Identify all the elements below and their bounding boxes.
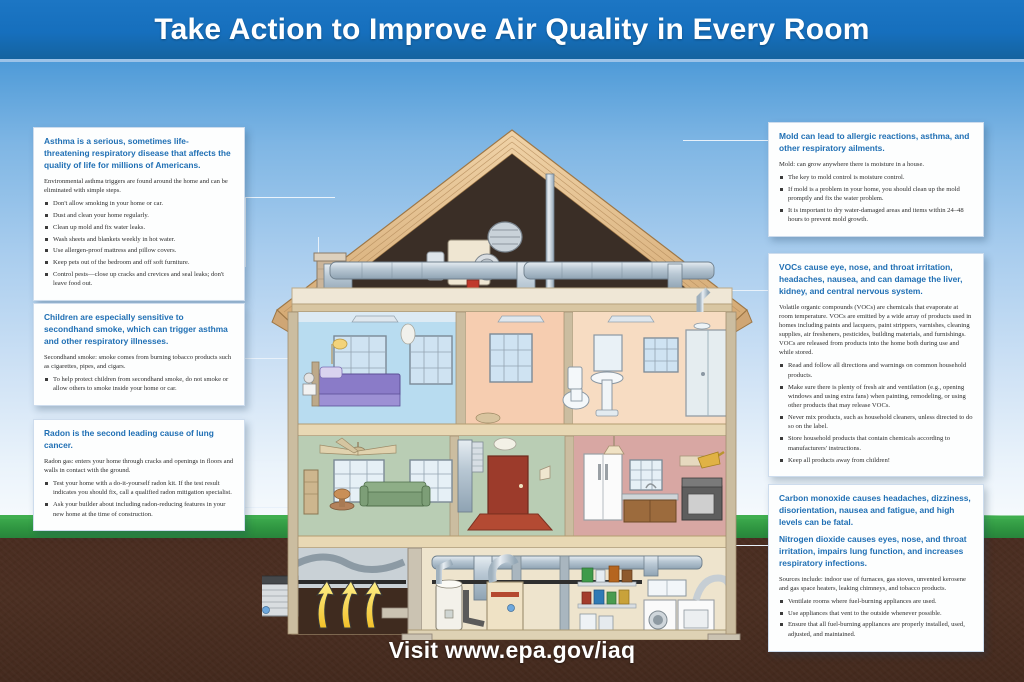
- callout-heading: Carbon monoxide causes headaches, dizzin…: [779, 493, 973, 529]
- callout-heading-2: Nitrogen dioxide causes eyes, nose, and …: [779, 534, 973, 570]
- poster-title-bar: Take Action to Improve Air Quality in Ev…: [0, 0, 1024, 62]
- callout-intro: Volatile organic compounds (VOCs) are ch…: [779, 303, 973, 358]
- callout-intro: Mold: can grow anywhere there is moistur…: [779, 160, 973, 169]
- list-item: Control pests—close up cracks and crevic…: [44, 270, 234, 289]
- callout-intro: Radon gas: enters your home through crac…: [44, 457, 234, 475]
- callout-bullets: The key to mold control is moisture cont…: [779, 173, 973, 225]
- list-item: Dust and clean your home regularly.: [44, 211, 234, 220]
- list-item: Use appliances that vent to the outside …: [779, 609, 973, 618]
- callout-mold: Mold can lead to allergic reactions, ast…: [768, 122, 984, 237]
- callout-bullets: Ventilate rooms where fuel-burning appli…: [779, 597, 973, 639]
- callout-intro: Secondhand smoke: smoke comes from burni…: [44, 353, 234, 371]
- callout-intro: Environmental asthma triggers are found …: [44, 177, 234, 195]
- list-item: Keep pets out of the bedroom and off sof…: [44, 258, 234, 267]
- list-item: Never mix products, such as household cl…: [779, 413, 973, 432]
- callout-heading: Radon is the second leading cause of lun…: [44, 428, 234, 452]
- callout-heading: Asthma is a serious, sometimes life-thre…: [44, 136, 234, 172]
- callout-asthma: Asthma is a serious, sometimes life-thre…: [33, 127, 245, 301]
- list-item: Ventilate rooms where fuel-burning appli…: [779, 597, 973, 606]
- list-item: Keep all products away from children!: [779, 456, 973, 465]
- callout-carbon-monoxide: Carbon monoxide causes headaches, dizzin…: [768, 484, 984, 652]
- list-item: Use allergen-proof mattress and pillow c…: [44, 246, 234, 255]
- callout-heading: VOCs cause eye, nose, and throat irritat…: [779, 262, 973, 298]
- callout-heading: Children are especially sensitive to sec…: [44, 312, 234, 348]
- callout-heading: Mold can lead to allergic reactions, ast…: [779, 131, 973, 155]
- list-item: Test your home with a do-it-yourself rad…: [44, 479, 234, 498]
- list-item: Store household products that contain ch…: [779, 434, 973, 453]
- list-item: Make sure there is plenty of fresh air a…: [779, 383, 973, 411]
- list-item: Read and follow all directions and warni…: [779, 361, 973, 380]
- callout-bullets: Don't allow smoking in your home or car.…: [44, 199, 234, 289]
- list-item: Ensure that all fuel-burning appliances …: [779, 620, 973, 639]
- list-item: To help protect children from secondhand…: [44, 375, 234, 394]
- callout-intro: Sources include: indoor use of furnaces,…: [779, 575, 973, 593]
- list-item: Don't allow smoking in your home or car.: [44, 199, 234, 208]
- list-item: If mold is a problem in your home, you s…: [779, 185, 973, 204]
- callout-secondhand-smoke: Children are especially sensitive to sec…: [33, 303, 245, 406]
- list-item: Ask your builder about including radon-r…: [44, 500, 234, 519]
- infographic-poster: Take Action to Improve Air Quality in Ev…: [0, 0, 1024, 682]
- page-title: Take Action to Improve Air Quality in Ev…: [154, 13, 869, 47]
- house-cutaway-illustration: [262, 112, 762, 640]
- callout-bullets: To help protect children from secondhand…: [44, 375, 234, 394]
- list-item: Wash sheets and blankets weekly in hot w…: [44, 235, 234, 244]
- callout-bullets: Test your home with a do-it-yourself rad…: [44, 479, 234, 519]
- callout-radon: Radon is the second leading cause of lun…: [33, 419, 245, 531]
- list-item: It is important to dry water-damaged are…: [779, 206, 973, 225]
- callout-bullets: Read and follow all directions and warni…: [779, 361, 973, 465]
- list-item: The key to mold control is moisture cont…: [779, 173, 973, 182]
- list-item: Clean up mold and fix water leaks.: [44, 223, 234, 232]
- callout-vocs: VOCs cause eye, nose, and throat irritat…: [768, 253, 984, 477]
